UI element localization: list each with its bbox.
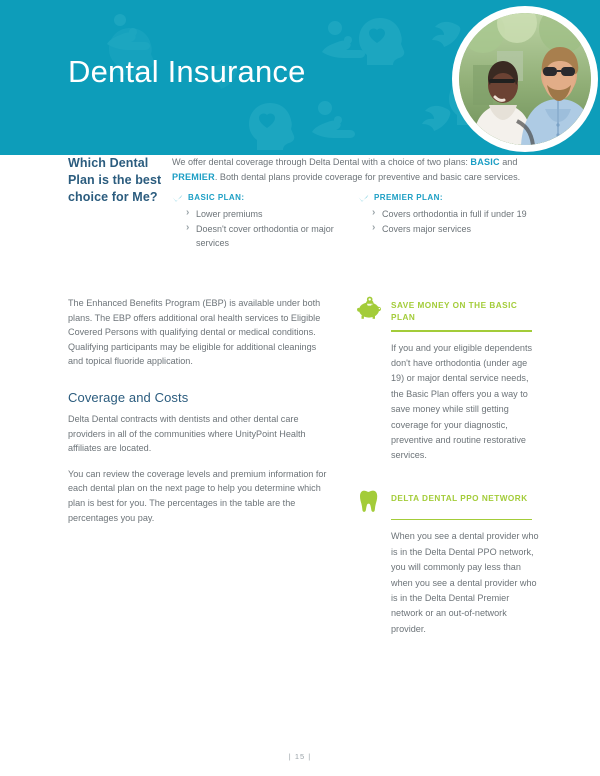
- plan-premier-header: PREMIER PLAN:: [358, 193, 528, 203]
- main-text-column: The Enhanced Benefits Program (EBP) is a…: [68, 296, 330, 662]
- check-icon: [358, 194, 369, 203]
- callout-save-money: SAVE MONEY ON THE BASIC PLAN If you and …: [356, 296, 532, 464]
- intro-paragraph: We offer dental coverage through Delta D…: [172, 155, 528, 184]
- list-item: Doesn't cover orthodontia or major servi…: [186, 222, 342, 250]
- page-footer: | 15 |: [0, 752, 600, 761]
- page-title: Dental Insurance: [68, 56, 306, 87]
- intro-text-1: We offer dental coverage through Delta D…: [172, 157, 470, 167]
- intro-block: We offer dental coverage through Delta D…: [172, 155, 528, 251]
- callout-ppo-network: DELTA DENTAL PPO NETWORK When you see a …: [356, 489, 532, 637]
- list-item: Covers major services: [372, 222, 528, 236]
- callout-save-money-title: SAVE MONEY ON THE BASIC PLAN: [391, 296, 532, 324]
- plan-basic-list: Lower premiums Doesn't cover orthodontia…: [172, 207, 342, 250]
- plan-name-premier: PREMIER: [172, 172, 215, 182]
- callout-divider: [391, 519, 532, 521]
- plan-basic-label: BASIC PLAN:: [188, 193, 245, 202]
- coverage-paragraph-2: You can review the coverage levels and p…: [68, 467, 330, 525]
- check-icon: [172, 194, 183, 203]
- ebp-paragraph: The Enhanced Benefits Program (EBP) is a…: [68, 296, 330, 369]
- plan-basic-header: BASIC PLAN:: [172, 193, 342, 203]
- tooth-icon: [356, 489, 382, 513]
- plan-premier-list: Covers orthodontia in full if under 19 C…: [358, 207, 528, 236]
- callout-column: SAVE MONEY ON THE BASIC PLAN If you and …: [356, 296, 532, 662]
- callout-divider: [391, 330, 532, 332]
- lower-content: The Enhanced Benefits Program (EBP) is a…: [68, 296, 532, 662]
- plan-name-basic: BASIC: [470, 157, 499, 167]
- list-item: Lower premiums: [186, 207, 342, 221]
- page-number: | 15 |: [289, 752, 311, 761]
- header-photo: [459, 13, 591, 145]
- plan-column-basic: BASIC PLAN: Lower premiums Doesn't cover…: [172, 193, 342, 251]
- callout-save-money-text: If you and your eligible dependents don'…: [391, 341, 541, 464]
- piggy-bank-icon: [356, 296, 382, 320]
- sidebar-question-block: Which Dental Plan is the best choice for…: [68, 155, 168, 206]
- callout-ppo-title: DELTA DENTAL PPO NETWORK: [391, 489, 528, 505]
- header-photo-ring: [452, 6, 598, 152]
- callout-ppo-text: When you see a dental provider who is in…: [391, 529, 541, 637]
- section-heading-coverage: Coverage and Costs: [68, 390, 330, 405]
- plan-column-premier: PREMIER PLAN: Covers orthodontia in full…: [358, 193, 528, 251]
- plan-premier-label: PREMIER PLAN:: [374, 193, 443, 202]
- coverage-paragraph-1: Delta Dental contracts with dentists and…: [68, 412, 330, 456]
- intro-text-2: . Both dental plans provide coverage for…: [215, 172, 520, 182]
- list-item: Covers orthodontia in full if under 19: [372, 207, 528, 221]
- sidebar-question: Which Dental Plan is the best choice for…: [68, 155, 168, 206]
- plan-comparison-columns: BASIC PLAN: Lower premiums Doesn't cover…: [172, 193, 528, 251]
- intro-text-mid: and: [500, 157, 518, 167]
